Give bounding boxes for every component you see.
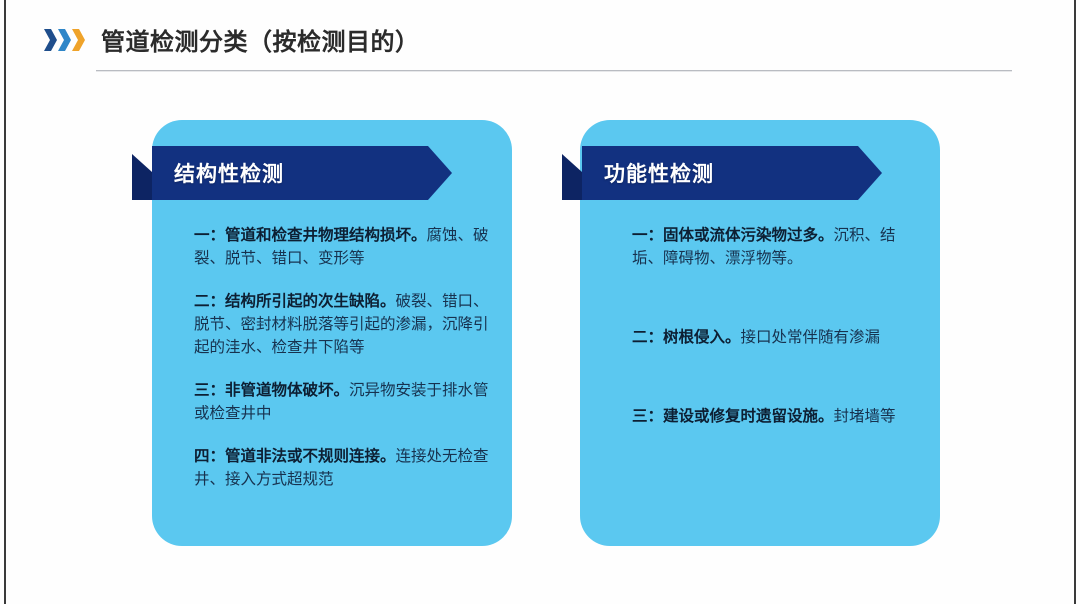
- list-item: 二：树根侵入。接口处常伴随有渗漏: [632, 326, 922, 349]
- list-item-rest: 封堵墙等: [834, 408, 896, 425]
- list-item-rest: 接口处常伴随有渗漏: [741, 329, 881, 346]
- slide-canvas: 管道检测分类（按检测目的） 一：管道和检查井物理结构损坏。腐蚀、破裂、脱节、错口…: [0, 0, 1080, 604]
- ribbon-shape: [562, 146, 882, 200]
- list-item: 一：管道和检查井物理结构损坏。腐蚀、破裂、脱节、错口、变形等: [194, 224, 490, 270]
- list-item-lead: 三：建设或修复时遗留设施。: [632, 408, 834, 425]
- chevron-right-icon: [58, 29, 71, 51]
- list-item-lead: 三：非管道物体破坏。: [194, 382, 349, 399]
- list-item-lead: 二：树根侵入。: [632, 329, 741, 346]
- chevron-group: [44, 29, 85, 51]
- ribbon-shape: [132, 146, 452, 200]
- card-body-list: 一：固体或流体污染物过多。沉积、结垢、障碍物、漂浮物等。 二：树根侵入。接口处常…: [580, 224, 940, 428]
- list-item-lead: 一：固体或流体污染物过多。: [632, 227, 834, 244]
- banner-functional: 功能性检测: [562, 146, 882, 200]
- list-item: 二：结构所引起的次生缺陷。破裂、错口、脱节、密封材料脱落等引起的渗漏，沉降引起的…: [194, 290, 490, 359]
- slide-header: 管道检测分类（按检测目的）: [44, 22, 420, 57]
- card-body-list: 一：管道和检查井物理结构损坏。腐蚀、破裂、脱节、错口、变形等 二：结构所引起的次…: [152, 224, 512, 491]
- list-item-lead: 一：管道和检查井物理结构损坏。: [194, 227, 427, 244]
- chevron-right-icon: [72, 29, 85, 51]
- banner-structural: 结构性检测: [132, 146, 452, 200]
- list-item: 三：非管道物体破坏。沉异物安装于排水管或检查井中: [194, 379, 490, 425]
- chevron-right-icon: [44, 29, 57, 51]
- list-item-lead: 二：结构所引起的次生缺陷。: [194, 293, 396, 310]
- list-item: 一：固体或流体污染物过多。沉积、结垢、障碍物、漂浮物等。: [632, 224, 922, 270]
- page-border-left: [4, 0, 6, 604]
- list-item: 四：管道非法或不规则连接。连接处无检查井、接入方式超规范: [194, 445, 490, 491]
- header-divider: [96, 70, 1012, 72]
- list-item: 三：建设或修复时遗留设施。封堵墙等: [632, 405, 922, 428]
- list-item-lead: 四：管道非法或不规则连接。: [194, 448, 396, 465]
- page-title: 管道检测分类（按检测目的）: [101, 22, 420, 57]
- page-border-right: [1074, 0, 1076, 604]
